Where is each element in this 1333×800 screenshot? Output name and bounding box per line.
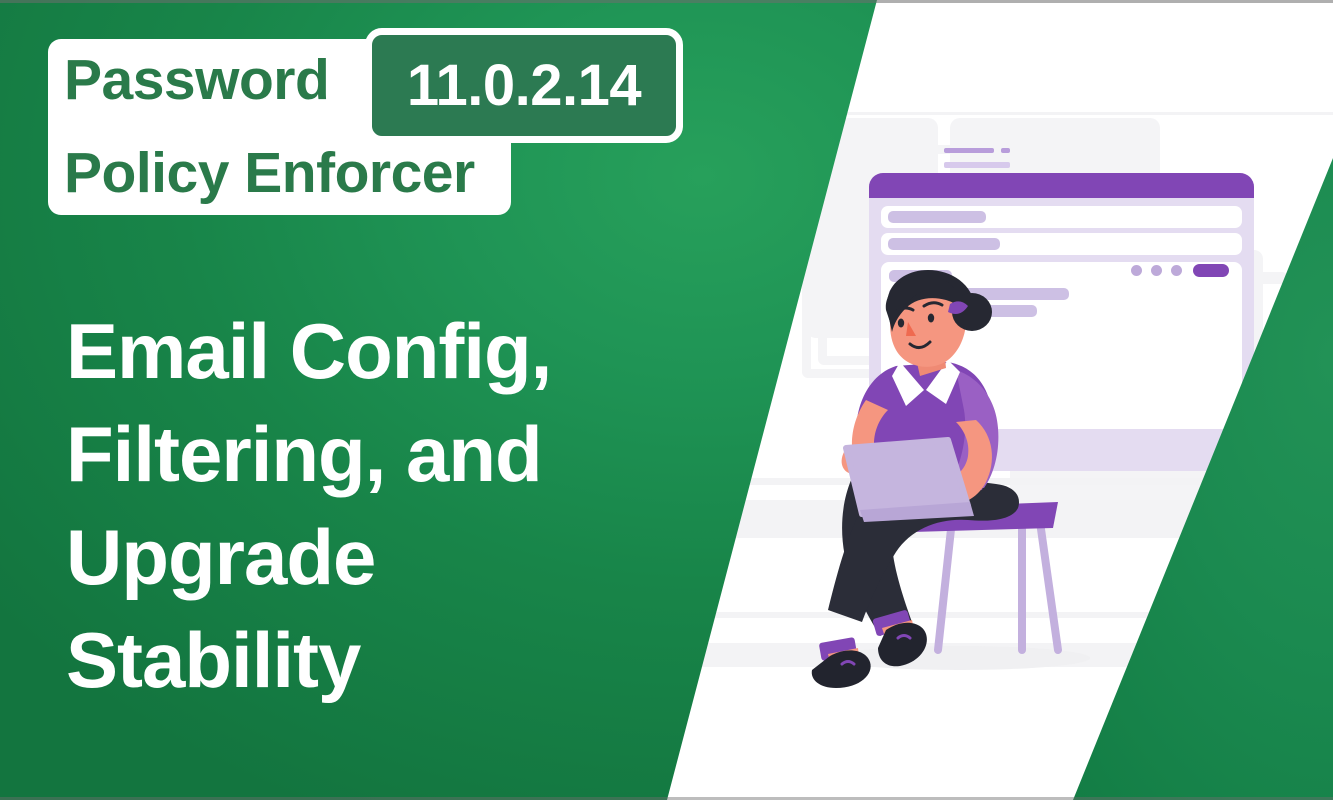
headline: Email Config, Filtering, and Upgrade Sta…: [66, 300, 686, 712]
laptop: [846, 440, 968, 514]
accent-line-dot: [1001, 148, 1010, 153]
browser-input-row-1[interactable]: [881, 206, 1242, 228]
eye-left: [898, 319, 904, 328]
headline-line-4: Stability: [66, 609, 686, 712]
browser-input-fill-2: [888, 238, 1000, 250]
brand-name-line-1: Password: [64, 52, 329, 109]
browser-titlebar: [869, 173, 1254, 198]
browser-footer-dot-1[interactable]: [1131, 265, 1142, 276]
version-label: 11.0.2.14: [407, 57, 641, 115]
accent-line-short: [944, 148, 994, 153]
headline-line-1: Email Config,: [66, 300, 686, 403]
brand-name-line-2: Policy Enforcer: [64, 145, 475, 202]
browser-footer-action-button[interactable]: [1193, 264, 1229, 277]
eye-right: [928, 314, 934, 323]
browser-input-fill-1: [888, 211, 986, 223]
banner-canvas: Password Policy Enforcer 11.0.2.14 Email…: [0, 0, 1333, 800]
stool-legs: [938, 520, 1058, 650]
version-badge: 11.0.2.14: [365, 28, 683, 143]
headline-line-2: Filtering, and: [66, 403, 686, 506]
accent-line-under: [944, 162, 1010, 168]
browser-footer-dot-2[interactable]: [1151, 265, 1162, 276]
browser-footer-dot-3[interactable]: [1171, 265, 1182, 276]
headline-line-3: Upgrade: [66, 506, 686, 609]
shoe-front: [812, 650, 871, 688]
top-border: [0, 0, 1333, 3]
character-illustration: [800, 270, 1130, 690]
browser-input-row-2[interactable]: [881, 233, 1242, 255]
